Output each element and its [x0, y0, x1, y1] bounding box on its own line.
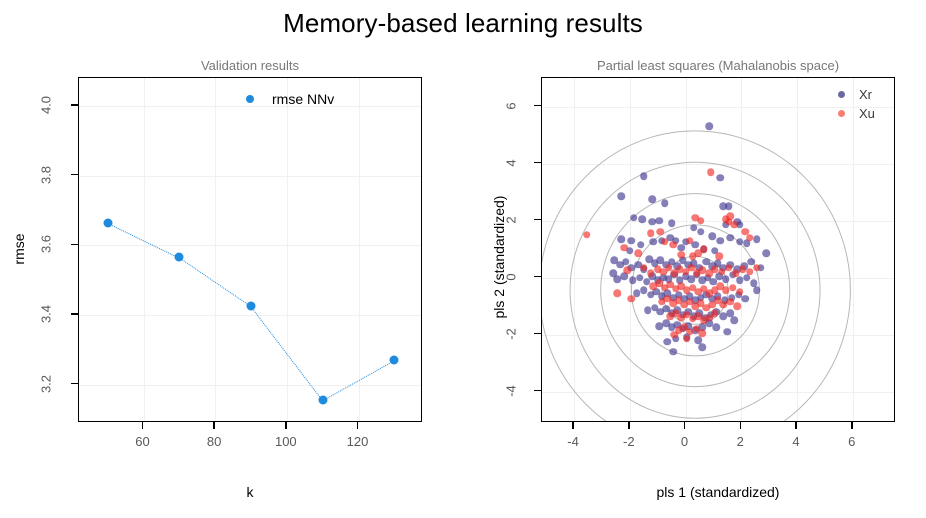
scatter-point-xu[interactable]	[614, 290, 622, 298]
scatter-point-xu[interactable]	[711, 309, 719, 317]
scatter-point-xu[interactable]	[671, 331, 679, 339]
y-axis-tick-label: -4	[504, 371, 519, 411]
figure-root: Memory-based learning results Validation…	[0, 0, 926, 518]
x-axis-tick	[795, 422, 797, 429]
scatter-point-xu[interactable]	[699, 329, 707, 337]
scatter-point-xu[interactable]	[726, 213, 734, 221]
data-point[interactable]	[390, 356, 399, 365]
left-plot-title: Validation results	[78, 58, 422, 73]
legend-row-xr: Xr	[838, 85, 875, 104]
scatter-point-xr[interactable]	[708, 232, 716, 240]
scatter-point-xr[interactable]	[648, 195, 656, 203]
gridline-vertical	[215, 78, 216, 421]
scatter-point-xu[interactable]	[753, 264, 761, 272]
scatter-point-xu[interactable]	[583, 231, 591, 239]
y-axis-tick-label: 4	[504, 143, 519, 183]
x-axis-tick-label: 0	[681, 434, 688, 449]
scatter-point-xr[interactable]	[753, 287, 761, 295]
scatter-point-xu[interactable]	[694, 250, 702, 258]
scatter-point-xu[interactable]	[686, 237, 694, 245]
xr-legend-swatch	[838, 91, 845, 98]
y-axis-tick	[534, 219, 541, 221]
scatter-point-xu[interactable]	[634, 250, 642, 258]
scatter-point-xu[interactable]	[657, 228, 665, 236]
data-point[interactable]	[318, 396, 327, 405]
scatter-point-xu[interactable]	[669, 241, 677, 249]
scatter-point-xr[interactable]	[726, 234, 734, 242]
y-axis-tick-label: 0	[504, 257, 519, 297]
legend-row-xu: Xu	[838, 104, 875, 123]
gridline-vertical	[359, 78, 360, 421]
scatter-point-xu[interactable]	[707, 168, 715, 176]
y-axis-tick-label: 6	[504, 86, 519, 126]
x-axis-tick-label: -2	[623, 434, 635, 449]
right-x-axis-title: pls 1 (standardized)	[541, 484, 895, 500]
data-point[interactable]	[247, 302, 256, 311]
gridline-horizontal	[79, 315, 421, 316]
scatter-point-xr[interactable]	[637, 241, 645, 249]
data-point[interactable]	[175, 253, 184, 262]
x-axis-tick	[851, 422, 853, 429]
left-y-axis-title: rmse	[11, 219, 27, 279]
scatter-point-xr[interactable]	[661, 200, 669, 208]
scatter-point-xu[interactable]	[725, 264, 733, 272]
scatter-point-xr[interactable]	[618, 193, 626, 201]
x-axis-tick-label: 6	[848, 434, 855, 449]
right-plot-title: Partial least squares (Mahalanobis space…	[541, 58, 895, 73]
scatter-point-xu[interactable]	[742, 228, 750, 236]
gridline-vertical	[287, 78, 288, 421]
scatter-point-xr[interactable]	[763, 250, 771, 258]
scatter-point-xr[interactable]	[742, 295, 750, 303]
y-axis-tick	[534, 105, 541, 107]
scatter-point-xu[interactable]	[647, 230, 655, 238]
x-axis-tick	[740, 422, 742, 429]
x-axis-tick	[213, 422, 215, 429]
validation-results-plot[interactable]	[78, 77, 422, 422]
x-axis-tick-label: 80	[207, 434, 221, 449]
y-axis-tick	[71, 383, 78, 385]
x-axis-tick	[684, 422, 686, 429]
scatter-point-xr[interactable]	[697, 228, 705, 236]
x-axis-tick-label: 60	[135, 434, 149, 449]
scatter-point-xr[interactable]	[731, 317, 739, 325]
x-axis-tick	[142, 422, 144, 429]
scatter-point-xr[interactable]	[699, 344, 707, 352]
data-point[interactable]	[103, 218, 112, 227]
x-axis-tick-label: 100	[275, 434, 297, 449]
scatter-point-xu[interactable]	[683, 335, 691, 343]
scatter-point-xu[interactable]	[661, 238, 669, 246]
scatter-point-xu[interactable]	[678, 251, 686, 259]
scatter-point-xr[interactable]	[609, 270, 617, 278]
y-axis-tick-label: 2	[504, 200, 519, 240]
x-axis-tick	[572, 422, 574, 429]
scatter-point-xr[interactable]	[668, 220, 676, 228]
scatter-point-xr[interactable]	[630, 214, 638, 222]
x-axis-tick-label: -4	[567, 434, 579, 449]
gridline-horizontal	[79, 245, 421, 246]
y-axis-tick-label: 3.8	[39, 155, 54, 195]
scatter-point-xu[interactable]	[697, 217, 705, 225]
y-axis-tick	[71, 174, 78, 176]
scatter-point-xu[interactable]	[620, 244, 628, 252]
pls-mahalanobis-plot[interactable]	[541, 77, 895, 422]
rmse-nnv-legend-swatch	[246, 95, 254, 103]
scatter-point-xu[interactable]	[640, 264, 648, 272]
scatter-point-xu[interactable]	[715, 252, 723, 260]
gridline-vertical	[144, 78, 145, 421]
scatter-point-xr[interactable]	[618, 235, 626, 243]
xu-legend-label: Xu	[859, 106, 875, 121]
scatter-point-xr[interactable]	[627, 237, 635, 245]
scatter-point-xr[interactable]	[717, 237, 725, 245]
y-axis-tick-label: -2	[504, 314, 519, 354]
scatter-point-xr[interactable]	[725, 203, 733, 211]
scatter-point-xu[interactable]	[731, 221, 739, 229]
scatter-point-xr[interactable]	[640, 173, 648, 181]
scatter-point-xr[interactable]	[717, 174, 725, 182]
gridline-vertical	[853, 78, 854, 421]
rmse-nnv-legend-label: rmse NNv	[272, 91, 334, 107]
scatter-point-xr[interactable]	[664, 338, 672, 346]
y-axis-tick	[534, 390, 541, 392]
y-axis-tick	[534, 276, 541, 278]
x-axis-tick-label: 2	[737, 434, 744, 449]
scatter-point-xr[interactable]	[655, 217, 663, 225]
y-axis-tick	[534, 333, 541, 335]
y-axis-tick	[71, 313, 78, 315]
scatter-point-xu[interactable]	[627, 295, 635, 303]
x-axis-tick	[628, 422, 630, 429]
xu-legend-swatch	[838, 110, 845, 117]
y-axis-tick-label: 3.6	[39, 224, 54, 264]
scatter-point-xr[interactable]	[724, 328, 732, 336]
x-axis-tick	[357, 422, 359, 429]
x-axis-tick	[285, 422, 287, 429]
right-plot-legend: Xr Xu	[838, 85, 875, 123]
page-title: Memory-based learning results	[0, 8, 926, 39]
y-axis-tick-label: 3.2	[39, 364, 54, 404]
scatter-point-xr[interactable]	[712, 324, 720, 332]
scatter-point-xu[interactable]	[623, 267, 631, 275]
gridline-horizontal	[79, 176, 421, 177]
y-axis-tick	[71, 244, 78, 246]
scatter-point-xr[interactable]	[669, 348, 677, 356]
scatter-point-xu[interactable]	[736, 288, 744, 296]
scatter-point-xr[interactable]	[753, 235, 761, 243]
scatter-point-xu[interactable]	[733, 302, 741, 310]
y-axis-tick	[534, 162, 541, 164]
scatter-point-xr[interactable]	[639, 215, 647, 223]
y-axis-tick-label: 3.4	[39, 294, 54, 334]
left-plot-legend: rmse NNv	[246, 91, 334, 107]
x-axis-tick-label: 120	[347, 434, 369, 449]
xr-legend-label: Xr	[859, 87, 872, 102]
scatter-point-xr[interactable]	[650, 238, 658, 246]
y-axis-tick	[71, 104, 78, 106]
left-x-axis-title: k	[78, 484, 422, 500]
scatter-point-xr[interactable]	[705, 123, 713, 131]
y-axis-tick-label: 4.0	[39, 85, 54, 125]
gridline-horizontal	[79, 385, 421, 386]
x-axis-tick-label: 4	[792, 434, 799, 449]
